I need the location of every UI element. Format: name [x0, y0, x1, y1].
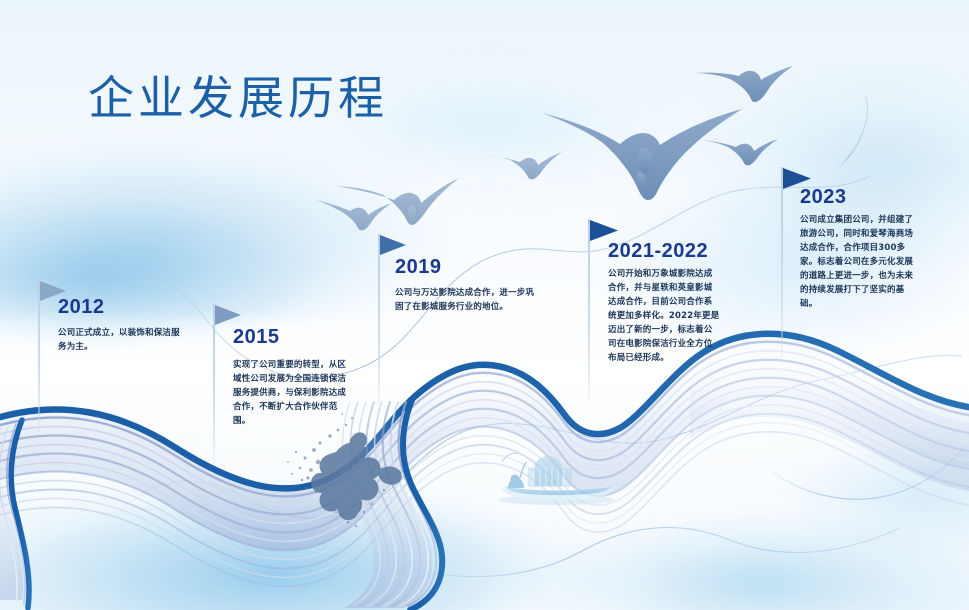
milestone-description: 公司与万达影院达成合作，进一步巩固了在影城服务行业的地位。: [395, 286, 537, 314]
milestone-description: 公司成立集团公司，并组建了旅游公司，同时和爱琴海商场达成合作，合作项目300多家…: [800, 213, 916, 311]
milestone-2021-2022[interactable]: 2021-2022 公司开始和万象城影院达成合作，并与星轶和英皇影城达成合作，目…: [588, 219, 798, 409]
fisherman-boat-icon: [498, 453, 616, 505]
milestone-description: 公司正式成立，以装饰和保洁服务为主。: [58, 326, 186, 354]
mountain-wash-bottom-right: [470, 505, 969, 610]
milestone-year: 2019: [395, 256, 442, 279]
poster-canvas: 企业发展历程 2012 公司正式成立，以装饰和保洁服务为主。 2015 实现了公…: [0, 0, 969, 610]
page-title: 企业发展历程: [88, 62, 388, 128]
flag-icon: [380, 234, 410, 258]
milestone-description: 公司开始和万象城影院达成合作，并与星轶和英皇影城达成合作，目前公司合作系统更加多…: [608, 267, 720, 365]
flag-icon: [215, 304, 245, 328]
milestone-2019[interactable]: 2019 公司与万达影院达成合作，进一步巩固了在影城服务行业的地位。: [378, 234, 578, 414]
mountain-wash-right: [760, 430, 969, 560]
flag-pole: [213, 304, 215, 464]
milestone-2023[interactable]: 2023 公司成立集团公司，并组建了旅游公司，同时和爱琴海商场达成合作，合作项目…: [781, 167, 969, 367]
milestone-description: 实现了公司重要的转型，从区域性公司发展为全国连锁保洁服务提供商，与保利影院达成合…: [233, 358, 351, 428]
ribbon-left-fold: [0, 420, 29, 608]
seagull-top-right-icon: [694, 66, 793, 165]
seagull-far-left-icon: [316, 200, 392, 230]
milestone-2012[interactable]: 2012 公司正式成立，以装饰和保洁服务为主。: [38, 280, 238, 440]
seagull-small-icon: [484, 152, 562, 179]
flag-pole: [588, 219, 590, 401]
flag-pole: [378, 234, 380, 406]
flag-pole: [781, 167, 783, 357]
milestone-year: 2023: [800, 186, 847, 209]
milestone-year: 2015: [233, 326, 280, 349]
seagull-large-icon: [542, 109, 742, 200]
mountain-wash-bottom-left: [0, 470, 730, 610]
milestone-year: 2021-2022: [608, 240, 708, 263]
milestone-year: 2012: [58, 296, 105, 319]
seagull-medium-icon: [335, 178, 459, 225]
